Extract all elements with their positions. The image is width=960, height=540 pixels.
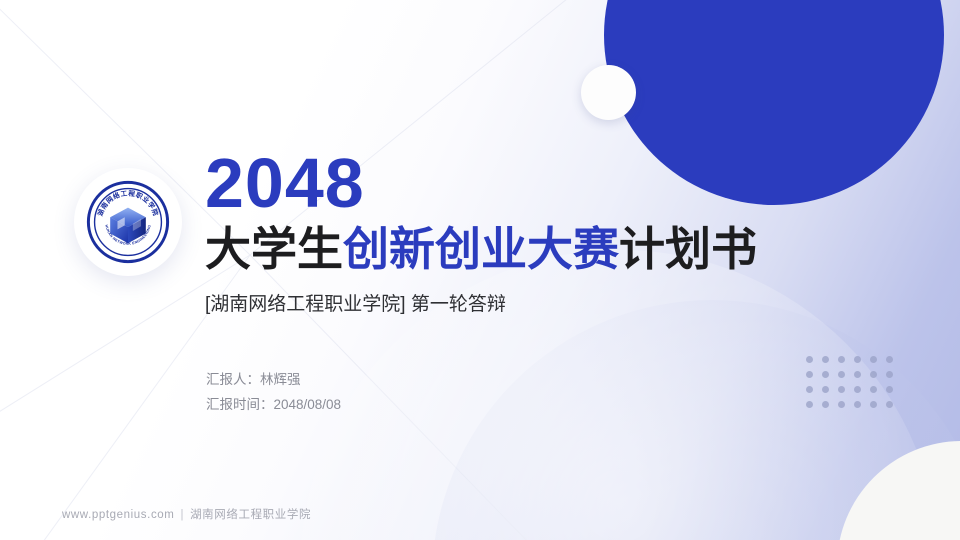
school-emblem-icon: 湖南网络工程职业学院 HUNAN NETWORK ENGINEERING (84, 178, 172, 266)
year-heading: 2048 (205, 148, 905, 218)
title-lead: 大学生 (205, 223, 343, 275)
title-trail: 计划书 (619, 223, 757, 275)
page-title: 大学生创新创业大赛计划书 (205, 224, 905, 276)
presentation-cover-slide: 湖南网络工程职业学院 HUNAN NETWORK ENGINEERING 204… (0, 0, 960, 540)
footer-organization: 湖南网络工程职业学院 (190, 509, 311, 521)
title-block: 2048 大学生创新创业大赛计划书 [湖南网络工程职业学院] 第一轮答辩 (205, 148, 905, 318)
slide-content: 湖南网络工程职业学院 HUNAN NETWORK ENGINEERING 204… (0, 0, 960, 540)
subtitle: [湖南网络工程职业学院] 第一轮答辩 (205, 292, 905, 319)
footer-website: www.pptgenius.com (62, 509, 174, 521)
footer-separator: | (180, 509, 184, 521)
school-logo-badge: 湖南网络工程职业学院 HUNAN NETWORK ENGINEERING (74, 168, 182, 276)
presenter-line: 汇报人：林辉强 (206, 368, 341, 393)
date-line: 汇报时间：2048/08/08 (206, 393, 341, 418)
footer: www.pptgenius.com|湖南网络工程职业学院 (62, 506, 311, 522)
title-highlight: 创新创业大赛 (343, 223, 619, 275)
presentation-meta: 汇报人：林辉强 汇报时间：2048/08/08 (206, 368, 341, 418)
